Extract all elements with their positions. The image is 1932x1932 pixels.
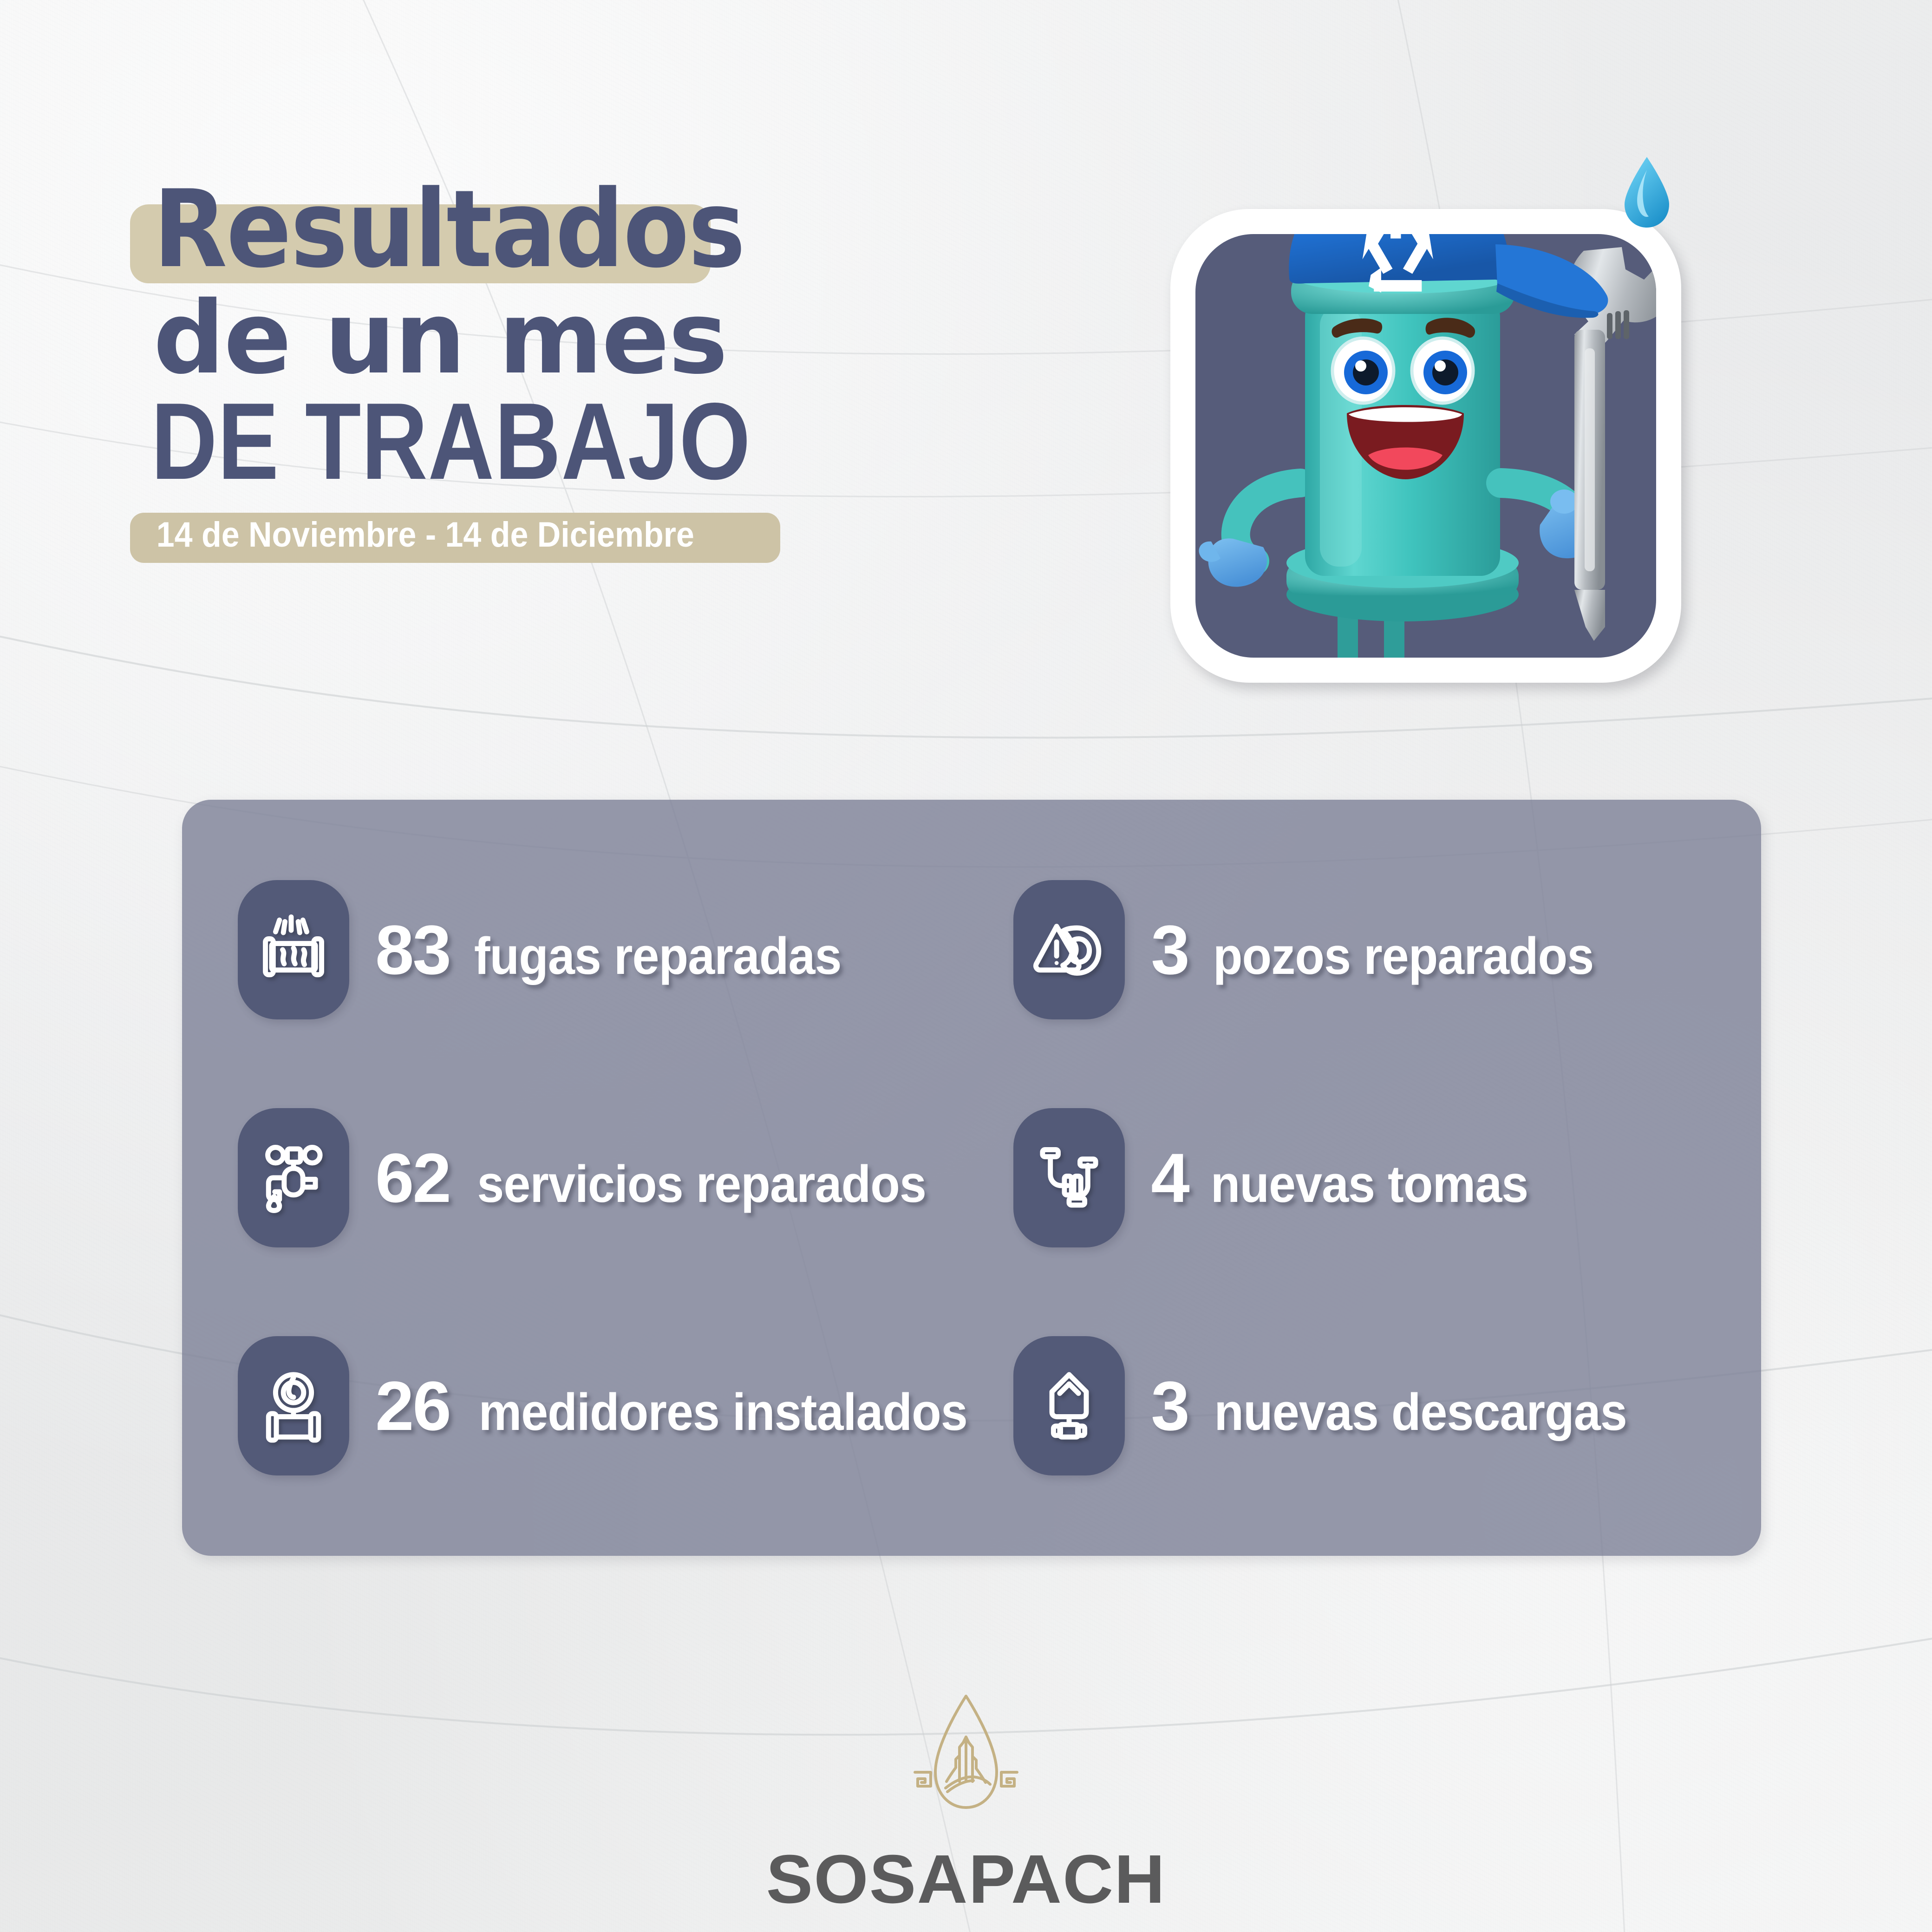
stat-number: 26 [375, 1371, 450, 1441]
date-range-badge: 14 de Noviembre - 14 de Diciembre [139, 510, 1022, 570]
stat-number: 4 [1151, 1143, 1188, 1213]
stat-label: fugas reparadas [474, 930, 842, 982]
stat-item-nuevas-descargas: 3 nuevas descargas [986, 1292, 1729, 1520]
stat-label: servicios reparados [477, 1158, 926, 1210]
sosapach-droplet-logo-icon [901, 1690, 1031, 1830]
faucet-drip-icon [255, 1139, 333, 1217]
mascot-sticker [1152, 130, 1756, 734]
stats-grid: 83 fugas reparadas 3 pozos reparados [182, 800, 1761, 1556]
stat-label: pozos reparados [1213, 930, 1594, 982]
mascot-left-arm [1199, 483, 1300, 587]
stat-text-nuevas-descargas: 3 nuevas descargas [1151, 1371, 1642, 1441]
headline-line-2: de un mes [139, 288, 727, 388]
stat-number: 3 [1151, 915, 1188, 985]
water-droplet-icon [1625, 157, 1669, 228]
stat-text-servicios-reparados: 62 servicios reparados [375, 1143, 943, 1213]
water-meter-icon [255, 1367, 333, 1445]
stat-item-fugas-reparadas: 83 fugas reparadas [238, 836, 986, 1064]
stat-label: medidores instalados [478, 1386, 967, 1438]
stat-number: 83 [375, 915, 450, 985]
stat-item-pozos-reparados: 3 pozos reparados [986, 836, 1729, 1064]
stat-text-fugas-reparadas: 83 fugas reparadas [375, 915, 855, 985]
icon-tile-pipe-elbow [1013, 1108, 1125, 1247]
headline-block: Resultados de un mes DE TRABAJO 14 de No… [139, 176, 1022, 570]
icon-tile-discharge-valve [1013, 1336, 1125, 1475]
icon-tile-leaking-pipe [238, 880, 349, 1019]
icon-tile-well-warning [1013, 880, 1125, 1019]
stat-text-pozos-reparados: 3 pozos reparados [1151, 915, 1608, 985]
headline-line-2-row: de un mes [139, 288, 1022, 395]
headline-line-3: DE TRABAJO [139, 386, 751, 496]
stat-item-servicios-reparados: 62 servicios reparados [238, 1064, 986, 1292]
stats-panel: 83 fugas reparadas 3 pozos reparados [182, 800, 1761, 1556]
stat-number: 3 [1151, 1371, 1188, 1441]
sosapach-wordmark: SOSAPACH [766, 1840, 1166, 1919]
pipe-elbow-icon [1030, 1139, 1108, 1217]
mascot-illustration [1152, 130, 1756, 734]
discharge-valve-icon [1030, 1367, 1108, 1445]
stat-text-medidores-instalados: 26 medidores instalados [375, 1371, 986, 1441]
stat-item-nuevas-tomas: 4 nuevas tomas [986, 1064, 1729, 1292]
icon-tile-water-meter [238, 1336, 349, 1475]
well-warning-icon [1030, 911, 1108, 989]
headline-line-3-row: DE TRABAJO [139, 386, 1022, 498]
headline-line-1-row: Resultados [139, 176, 1022, 293]
stat-label: nuevas descargas [1214, 1386, 1626, 1438]
date-range-text: 14 de Noviembre - 14 de Diciembre [139, 510, 694, 560]
stat-number: 62 [375, 1143, 450, 1213]
headline-line-1: Resultados [139, 176, 744, 283]
footer-logo-block: SOSAPACH [0, 1690, 1932, 1919]
stat-item-medidores-instalados: 26 medidores instalados [238, 1292, 986, 1520]
leaking-pipe-icon [255, 911, 333, 989]
stat-text-nuevas-tomas: 4 nuevas tomas [1151, 1143, 1540, 1213]
icon-tile-faucet-drip [238, 1108, 349, 1247]
stat-label: nuevas tomas [1210, 1158, 1528, 1210]
